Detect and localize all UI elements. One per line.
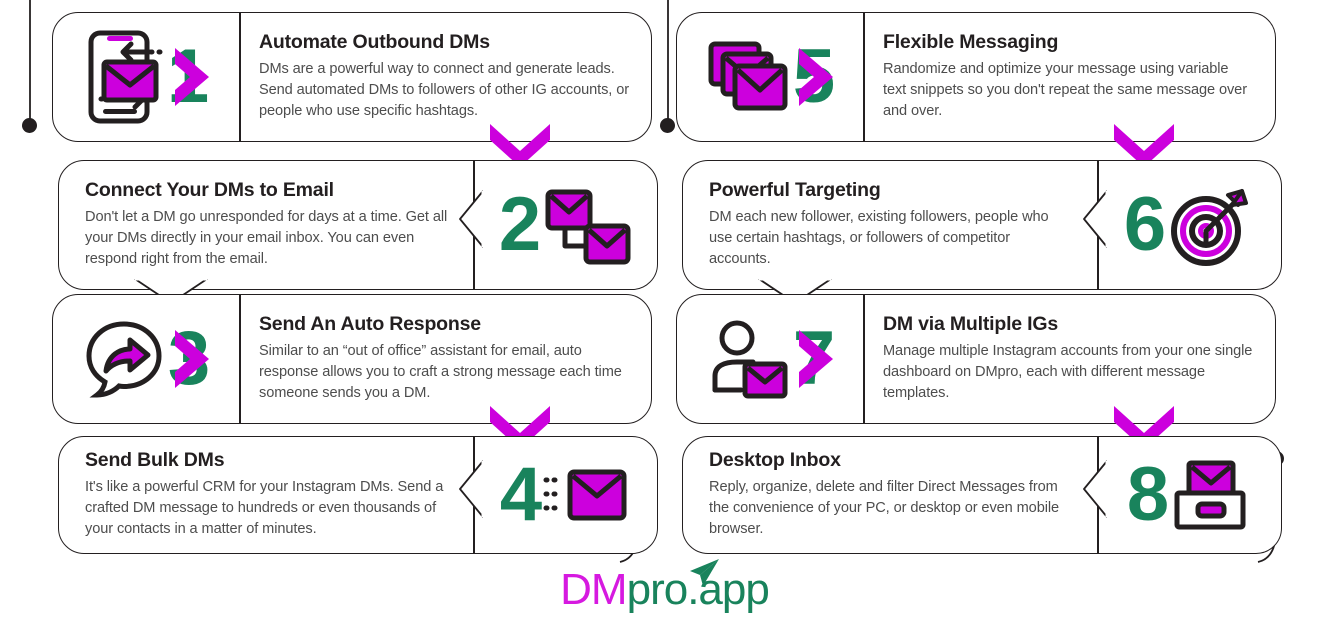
card-7-text-pane: DM via Multiple IGs Manage multiple Inst… (863, 295, 1275, 423)
logo-text-dm: DM (560, 565, 626, 614)
card-3[interactable]: 3 Send An Auto Response Similar to an “o… (52, 294, 652, 424)
card-1[interactable]: 1 Automate Outbound DMs DMs are a powerf… (52, 12, 652, 142)
card-7-chevron-right-icon (795, 328, 841, 390)
card-2-text-pane: Connect Your DMs to Email Don't let a DM… (59, 161, 471, 289)
card-4-text-pane: Send Bulk DMs It's like a powerful CRM f… (59, 437, 471, 553)
connector-dot-left-start (22, 118, 37, 133)
card-1-body: DMs are a powerful way to connect and ge… (259, 59, 629, 122)
card-3-chevron-right-icon (171, 328, 217, 390)
infographic-canvas: 1 Automate Outbound DMs DMs are a powerf… (0, 0, 1329, 631)
card-7-body: Manage multiple Instagram accounts from … (883, 341, 1253, 404)
card-2-icon-pane: 2 (471, 161, 657, 289)
card-2[interactable]: Connect Your DMs to Email Don't let a DM… (58, 160, 658, 290)
card-6[interactable]: Powerful Targeting DM each new follower,… (682, 160, 1282, 290)
card-1-text-pane: Automate Outbound DMs DMs are a powerful… (239, 13, 651, 141)
card-5-title: Flexible Messaging (883, 32, 1253, 54)
card-3-text-pane: Send An Auto Response Similar to an “out… (239, 295, 651, 423)
card-5-body: Randomize and optimize your message usin… (883, 59, 1253, 122)
card-7-title: DM via Multiple IGs (883, 314, 1253, 336)
card-6-body: DM each new follower, existing followers… (709, 207, 1073, 270)
card-3-title: Send An Auto Response (259, 314, 629, 336)
phone-envelope-exchange-icon (85, 29, 163, 125)
inbox-tray-envelope-icon (1171, 459, 1249, 531)
card-7[interactable]: 7 DM via Multiple IGs Manage multiple In… (676, 294, 1276, 424)
card-5-text-pane: Flexible Messaging Randomize and optimiz… (863, 13, 1275, 141)
card-4-number: 4 (500, 465, 540, 526)
card-4-notch-left (458, 460, 484, 518)
linked-envelopes-icon (543, 182, 629, 268)
card-2-body: Don't let a DM go unresponded for days a… (85, 207, 449, 270)
card-8-body: Reply, organize, delete and filter Direc… (709, 477, 1073, 540)
card-8-text-pane: Desktop Inbox Reply, organize, delete an… (683, 437, 1095, 553)
card-4-title: Send Bulk DMs (85, 450, 449, 472)
card-1-chevron-right-icon (171, 46, 217, 108)
card-3-body: Similar to an “out of office” assistant … (259, 341, 629, 404)
logo[interactable]: DMpro.app (0, 568, 1329, 612)
card-6-number: 6 (1124, 195, 1164, 256)
card-6-notch-left (1082, 190, 1108, 248)
card-8-number: 8 (1127, 465, 1167, 526)
card-6-title: Powerful Targeting (709, 180, 1073, 202)
card-8-notch-left (1082, 460, 1108, 518)
card-6-icon-pane: 6 (1095, 161, 1281, 289)
card-5-chevron-right-icon (795, 46, 841, 108)
target-arrow-icon (1168, 183, 1252, 267)
speech-bubble-forward-arrow-icon (84, 319, 164, 399)
card-2-notch-left (458, 190, 484, 248)
card-1-title: Automate Outbound DMs (259, 32, 629, 54)
card-2-number: 2 (499, 195, 539, 256)
card-4[interactable]: Send Bulk DMs It's like a powerful CRM f… (58, 436, 658, 554)
card-8[interactable]: Desktop Inbox Reply, organize, delete an… (682, 436, 1282, 554)
connector-dot-right-start (660, 118, 675, 133)
stacked-envelopes-icon (707, 38, 789, 116)
card-8-title: Desktop Inbox (709, 450, 1073, 472)
card-8-icon-pane: 8 (1095, 437, 1281, 553)
sending-envelope-icon (544, 464, 628, 526)
card-5[interactable]: 5 Flexible Messaging Randomize and optim… (676, 12, 1276, 142)
card-4-body: It's like a powerful CRM for your Instag… (85, 477, 449, 540)
paper-plane-icon (687, 558, 721, 588)
card-2-title: Connect Your DMs to Email (85, 180, 449, 202)
user-envelope-icon (707, 318, 789, 400)
card-6-text-pane: Powerful Targeting DM each new follower,… (683, 161, 1095, 289)
card-4-icon-pane: 4 (471, 437, 657, 553)
